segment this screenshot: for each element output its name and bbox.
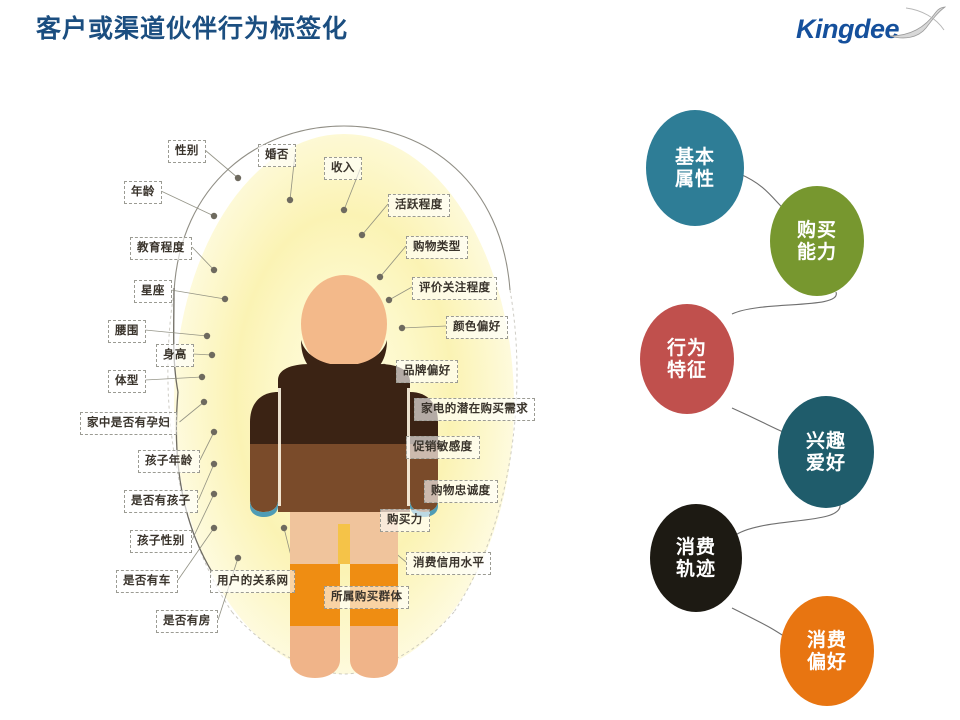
bubble-label-line1: 基本 <box>675 146 715 168</box>
persona-tag: 用户的关系网 <box>210 570 295 593</box>
bubble-label-line1: 消费 <box>676 536 716 558</box>
persona-tag: 婚否 <box>258 144 296 167</box>
bubble-label-line2: 轨迹 <box>676 558 716 580</box>
bubble-label-line2: 特征 <box>667 359 707 381</box>
bubble-label-line2: 偏好 <box>807 651 847 673</box>
persona-tag: 促销敏感度 <box>406 436 480 459</box>
bubble-label-line1: 行为 <box>667 337 707 359</box>
persona-tag: 购物忠诚度 <box>424 480 498 503</box>
persona-tag: 家中是否有孕妇 <box>80 412 177 435</box>
page-title: 客户或渠道伙伴行为标签化 <box>36 9 348 45</box>
bubble-label-line1: 兴趣 <box>806 430 846 452</box>
category-bubbles: 基本属性购买能力行为特征兴趣爱好消费轨迹消费偏好 <box>632 96 952 712</box>
kingdee-logo: Kingdee <box>778 6 946 50</box>
persona-tag: 评价关注程度 <box>412 277 497 300</box>
logo-swoosh-icon <box>888 6 946 46</box>
persona-tag: 所属购买群体 <box>324 586 409 609</box>
persona-tag: 性别 <box>168 140 206 163</box>
bubble-label-line2: 属性 <box>675 168 715 190</box>
category-bubble[interactable]: 消费轨迹 <box>650 504 742 612</box>
persona-tag: 孩子年龄 <box>138 450 200 473</box>
bubble-label-line2: 能力 <box>797 241 837 263</box>
human-figure <box>250 275 438 678</box>
category-bubble[interactable]: 基本属性 <box>646 110 744 226</box>
slide-header: 客户或渠道伙伴行为标签化 Kingdee <box>0 0 960 52</box>
persona-tag: 颜色偏好 <box>446 316 508 339</box>
persona-tag: 是否有孩子 <box>124 490 198 513</box>
persona-tag: 家电的潜在购买需求 <box>414 398 535 421</box>
persona-tag: 购买力 <box>380 509 430 532</box>
persona-tag: 孩子性别 <box>130 530 192 553</box>
persona-tag: 是否有车 <box>116 570 178 593</box>
category-bubble[interactable]: 消费偏好 <box>780 596 874 706</box>
persona-tag: 体型 <box>108 370 146 393</box>
category-bubble[interactable]: 行为特征 <box>640 304 734 414</box>
persona-tag: 是否有房 <box>156 610 218 633</box>
persona-tag: 品牌偏好 <box>396 360 458 383</box>
persona-tag: 身高 <box>156 344 194 367</box>
slide-root: 客户或渠道伙伴行为标签化 Kingdee <box>0 0 960 720</box>
persona-illustration: 性别婚否收入年龄活跃程度教育程度购物类型评价关注程度星座颜色偏好腰围身高品牌偏好… <box>62 92 622 708</box>
persona-tag: 收入 <box>324 157 362 180</box>
persona-tag: 星座 <box>134 280 172 303</box>
persona-tag: 消费信用水平 <box>406 552 491 575</box>
persona-tag: 教育程度 <box>130 237 192 260</box>
bubble-label-line2: 爱好 <box>806 452 846 474</box>
bubble-label-line1: 购买 <box>797 219 837 241</box>
bubble-connector <box>734 504 840 536</box>
category-bubble[interactable]: 兴趣爱好 <box>778 396 874 508</box>
persona-tag: 腰围 <box>108 320 146 343</box>
category-bubble[interactable]: 购买能力 <box>770 186 864 296</box>
kingdee-logo-text: Kingdee <box>796 14 899 45</box>
persona-tag: 购物类型 <box>406 236 468 259</box>
persona-tag: 活跃程度 <box>388 194 450 217</box>
bubble-label-line1: 消费 <box>807 629 847 651</box>
persona-tag: 年龄 <box>124 181 162 204</box>
